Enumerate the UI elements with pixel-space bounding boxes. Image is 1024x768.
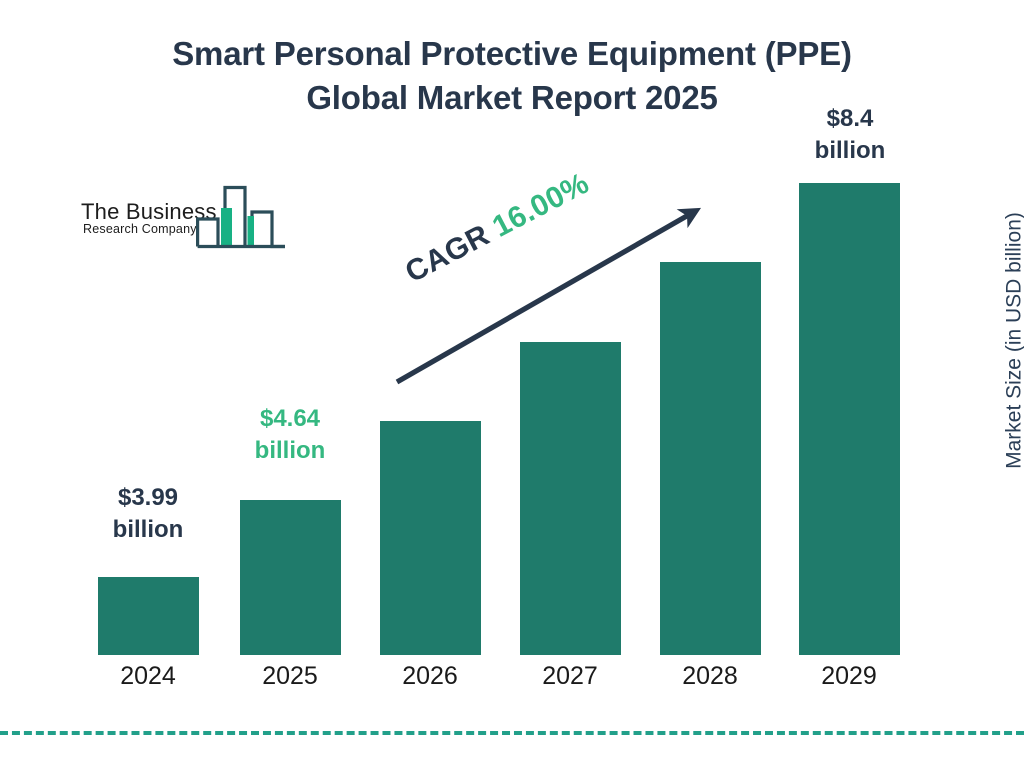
value-callout-2029: $8.4 billion [780, 103, 920, 166]
value-callout-2025: $4.64 billion [220, 403, 360, 466]
y-axis-label: Market Size (in USD billion) [1004, 171, 1024, 511]
xtick-2029: 2029 [784, 664, 914, 689]
xtick-2025: 2025 [225, 664, 355, 689]
xtick-2027: 2027 [505, 664, 635, 689]
xtick-2026: 2026 [365, 664, 495, 689]
xtick-2028: 2028 [645, 664, 775, 689]
value-callout-2024: $3.99 billion [78, 482, 218, 545]
bar-2029 [799, 183, 900, 655]
chart-canvas: Smart Personal Protective Equipment (PPE… [0, 0, 1024, 768]
bar-2027 [520, 342, 621, 655]
xtick-2024: 2024 [83, 664, 213, 689]
bar-2024 [98, 577, 199, 655]
footer-divider [0, 731, 1024, 735]
bar-2025 [240, 500, 341, 655]
bar-2028 [660, 262, 761, 655]
bar-2026 [380, 421, 481, 655]
